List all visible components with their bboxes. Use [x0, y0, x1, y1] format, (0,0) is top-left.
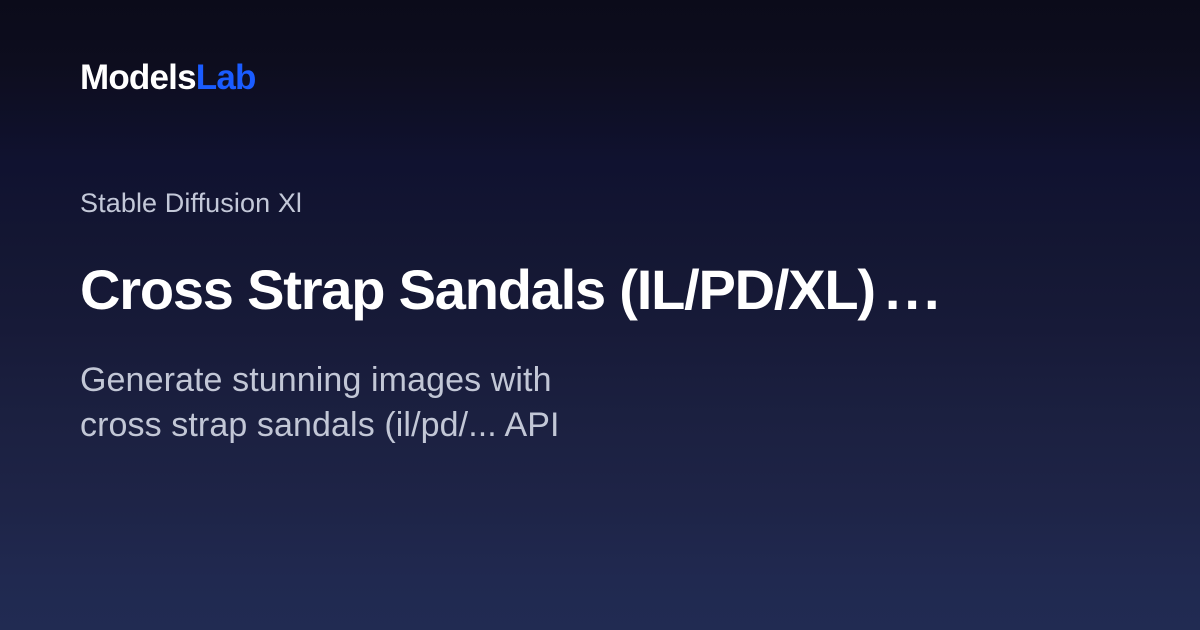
page-title-truncation-ellipsis: ... [885, 259, 944, 321]
page-description-line-1: Generate stunning images with [80, 358, 720, 403]
page-title-text: Cross Strap Sandals (IL/PD/XL) [80, 259, 875, 321]
modelslab-logo[interactable]: ModelsLab [80, 60, 256, 95]
model-family-label: Stable Diffusion Xl [80, 187, 302, 219]
logo-primary-text: Models [80, 60, 196, 95]
logo-accent-text: Lab [196, 60, 256, 95]
page-title: Cross Strap Sandals (IL/PD/XL)... [80, 259, 1140, 322]
page-description: Generate stunning images with cross stra… [80, 358, 720, 448]
page-description-line-2: cross strap sandals (il/pd/... API [80, 403, 720, 448]
og-card: ModelsLab Stable Diffusion Xl Cross Stra… [0, 0, 1200, 630]
